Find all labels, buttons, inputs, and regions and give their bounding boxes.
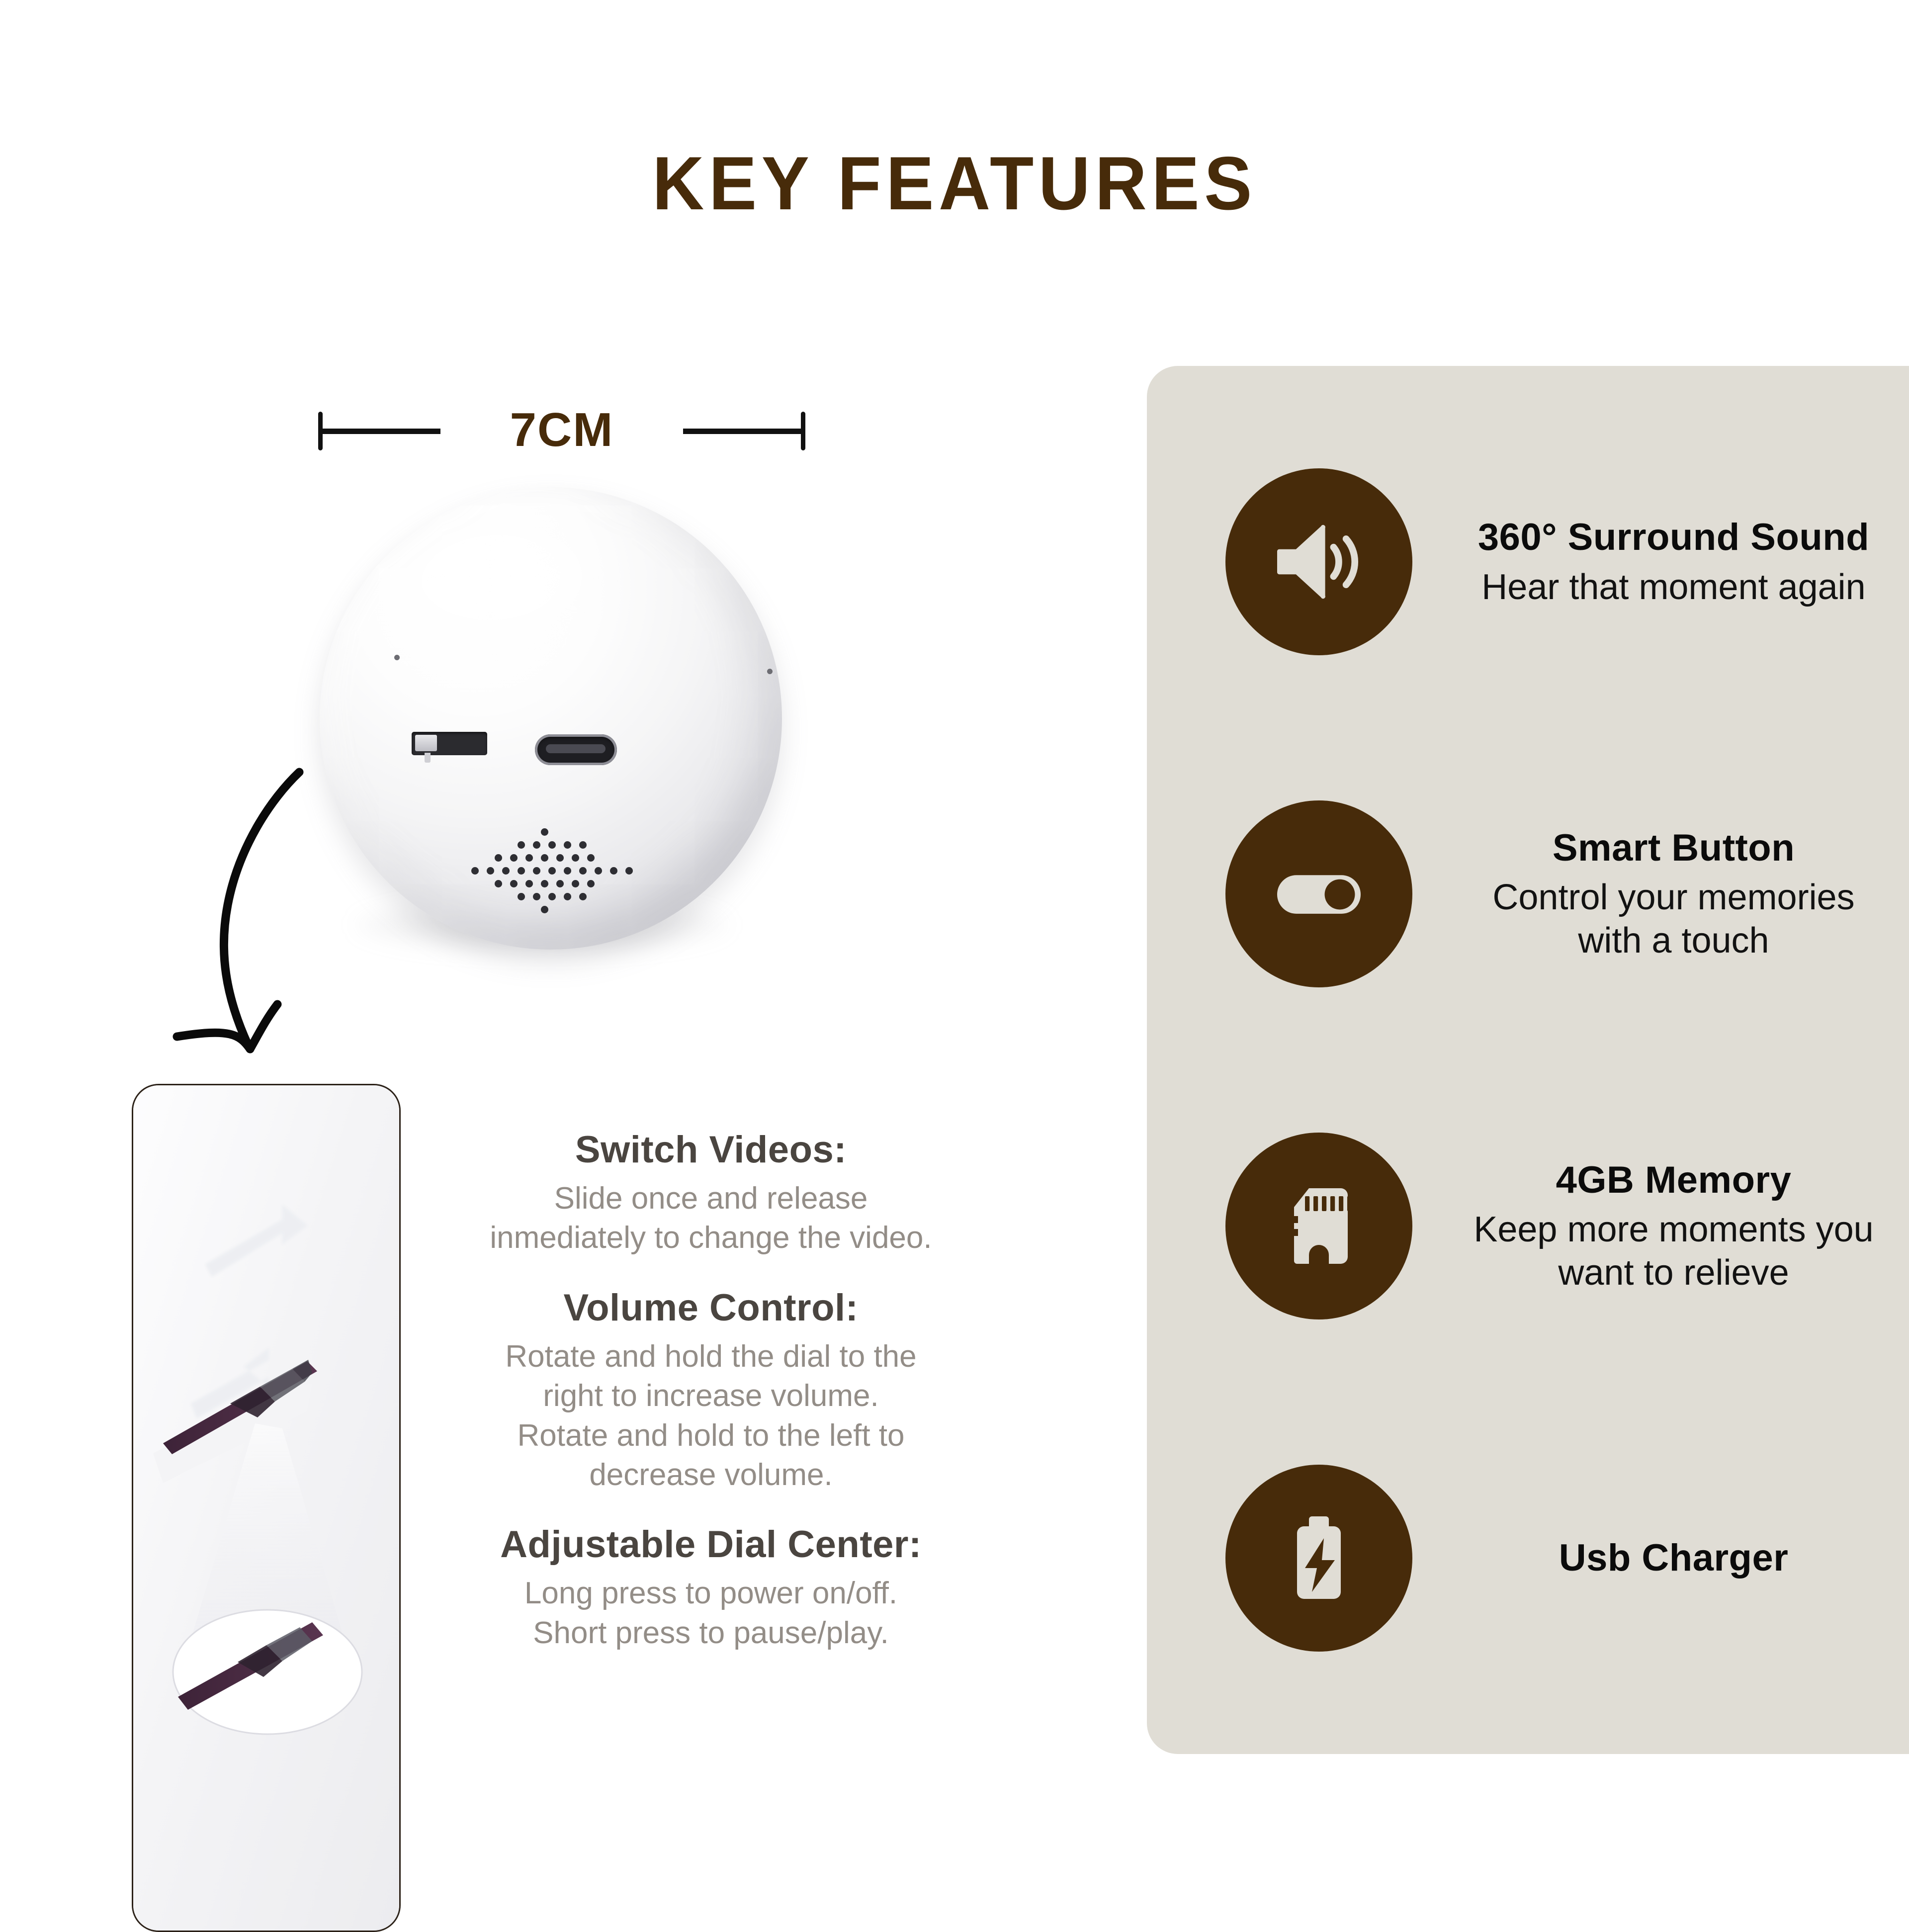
instruction-line: Short press to pause/play. bbox=[437, 1613, 984, 1653]
grille-dot bbox=[548, 841, 556, 849]
grille-dot bbox=[556, 854, 564, 862]
microphone-pinhole-icon bbox=[394, 655, 400, 660]
speaker-sphere bbox=[320, 487, 782, 950]
instruction-title: Switch Videos: bbox=[437, 1129, 984, 1171]
grille-dot bbox=[471, 867, 479, 875]
grille-dot bbox=[587, 880, 595, 887]
feature-subtitle: Control your memories with a touch bbox=[1443, 876, 1904, 962]
reset-pinhole-icon bbox=[767, 669, 773, 674]
grille-dot bbox=[525, 854, 533, 862]
grille-dot bbox=[541, 880, 548, 887]
grille-dot bbox=[556, 880, 564, 887]
curved-down-arrow-icon bbox=[164, 756, 363, 1059]
grille-dot bbox=[541, 828, 548, 836]
grille-dot bbox=[548, 867, 556, 875]
speaker-volume-icon bbox=[1225, 468, 1412, 655]
dimension-bar-right bbox=[683, 429, 802, 434]
slider-knob bbox=[415, 735, 437, 751]
grille-dot bbox=[533, 893, 540, 900]
feature-subtitle: Keep more moments you want to relieve bbox=[1443, 1208, 1904, 1294]
grille-dot bbox=[495, 854, 502, 862]
grille-dot bbox=[502, 867, 510, 875]
instruction-block-volume-control: Volume Control: Rotate and hold the dial… bbox=[437, 1287, 984, 1495]
feature-title: Usb Charger bbox=[1443, 1536, 1904, 1581]
product-image bbox=[298, 477, 825, 984]
grille-dot bbox=[525, 880, 533, 887]
grille-dot bbox=[495, 880, 502, 887]
grille-dot bbox=[564, 841, 571, 849]
grille-dot bbox=[518, 867, 525, 875]
instruction-block-adjustable-dial-center: Adjustable Dial Center: Long press to po… bbox=[437, 1523, 984, 1653]
feature-text: Usb Charger bbox=[1443, 1536, 1904, 1581]
instruction-line: Slide once and release bbox=[437, 1179, 984, 1218]
grille-dot bbox=[572, 854, 579, 862]
instruction-line: Rotate and hold to the left to bbox=[437, 1416, 984, 1455]
toggle-switch-icon bbox=[1225, 800, 1412, 987]
instruction-line: Rotate and hold the dial to the bbox=[437, 1337, 984, 1376]
instruction-line: decrease volume. bbox=[437, 1455, 984, 1494]
grille-dot bbox=[518, 893, 525, 900]
grille-dot bbox=[587, 854, 595, 862]
instruction-block-switch-videos: Switch Videos: Slide once and release in… bbox=[437, 1129, 984, 1258]
instruction-line: Long press to power on/off. bbox=[437, 1574, 984, 1613]
feature-row-smart-button[interactable]: Smart Button Control your memories with … bbox=[1147, 800, 1909, 987]
grille-dot bbox=[564, 867, 571, 875]
grille-dot bbox=[510, 854, 518, 862]
feature-title: 360° Surround Sound bbox=[1443, 515, 1904, 560]
grille-dot bbox=[541, 854, 548, 862]
dial-slider-photo bbox=[133, 1085, 399, 1931]
grille-dot bbox=[579, 893, 587, 900]
usb-c-tongue bbox=[546, 744, 606, 753]
dimension-measure: 7CM bbox=[318, 412, 805, 461]
grille-dot bbox=[533, 841, 540, 849]
feature-subtitle: Hear that moment again bbox=[1443, 566, 1904, 609]
page-title: KEY FEATURES bbox=[48, 140, 1861, 227]
grille-dot bbox=[572, 880, 579, 887]
feature-text: 4GB Memory Keep more moments you want to… bbox=[1443, 1158, 1904, 1294]
grille-dot bbox=[548, 893, 556, 900]
grille-dot bbox=[579, 867, 587, 875]
sd-memory-card-icon bbox=[1225, 1133, 1412, 1319]
dial-photo-card bbox=[132, 1084, 401, 1932]
usb-c-port-icon bbox=[535, 734, 617, 765]
grille-dot bbox=[564, 893, 571, 900]
feature-text: Smart Button Control your memories with … bbox=[1443, 826, 1904, 962]
grille-dot bbox=[541, 906, 548, 913]
feature-title: Smart Button bbox=[1443, 826, 1904, 871]
grille-dot bbox=[510, 880, 518, 887]
slider-switch-icon bbox=[412, 732, 487, 755]
instructions-column: Switch Videos: Slide once and release in… bbox=[437, 1129, 984, 1681]
sphere-highlight bbox=[407, 525, 615, 654]
grille-dot bbox=[487, 867, 494, 875]
dimension-cap-right bbox=[801, 412, 805, 450]
feature-row-surround-sound[interactable]: 360° Surround Sound Hear that moment aga… bbox=[1147, 468, 1909, 655]
feature-title: 4GB Memory bbox=[1443, 1158, 1904, 1203]
feature-list: 360° Surround Sound Hear that moment aga… bbox=[1147, 366, 1909, 1754]
battery-charging-icon bbox=[1225, 1465, 1412, 1652]
feature-panel: 360° Surround Sound Hear that moment aga… bbox=[1147, 366, 1909, 1754]
instruction-line: inmediately to change the video. bbox=[437, 1218, 984, 1257]
grille-dot bbox=[595, 867, 602, 875]
instruction-title: Adjustable Dial Center: bbox=[437, 1523, 984, 1566]
speaker-grille bbox=[464, 828, 638, 923]
grille-dot bbox=[518, 841, 525, 849]
grille-dot bbox=[625, 867, 633, 875]
instruction-title: Volume Control: bbox=[437, 1287, 984, 1329]
grille-dot bbox=[610, 867, 617, 875]
instruction-line: right to increase volume. bbox=[437, 1376, 984, 1415]
feature-text: 360° Surround Sound Hear that moment aga… bbox=[1443, 515, 1904, 609]
grille-dot bbox=[533, 867, 540, 875]
grille-dot bbox=[579, 841, 587, 849]
feature-row-usb-charger[interactable]: Usb Charger bbox=[1147, 1465, 1909, 1652]
feature-row-memory[interactable]: 4GB Memory Keep more moments you want to… bbox=[1147, 1133, 1909, 1319]
slider-tab bbox=[425, 753, 431, 763]
